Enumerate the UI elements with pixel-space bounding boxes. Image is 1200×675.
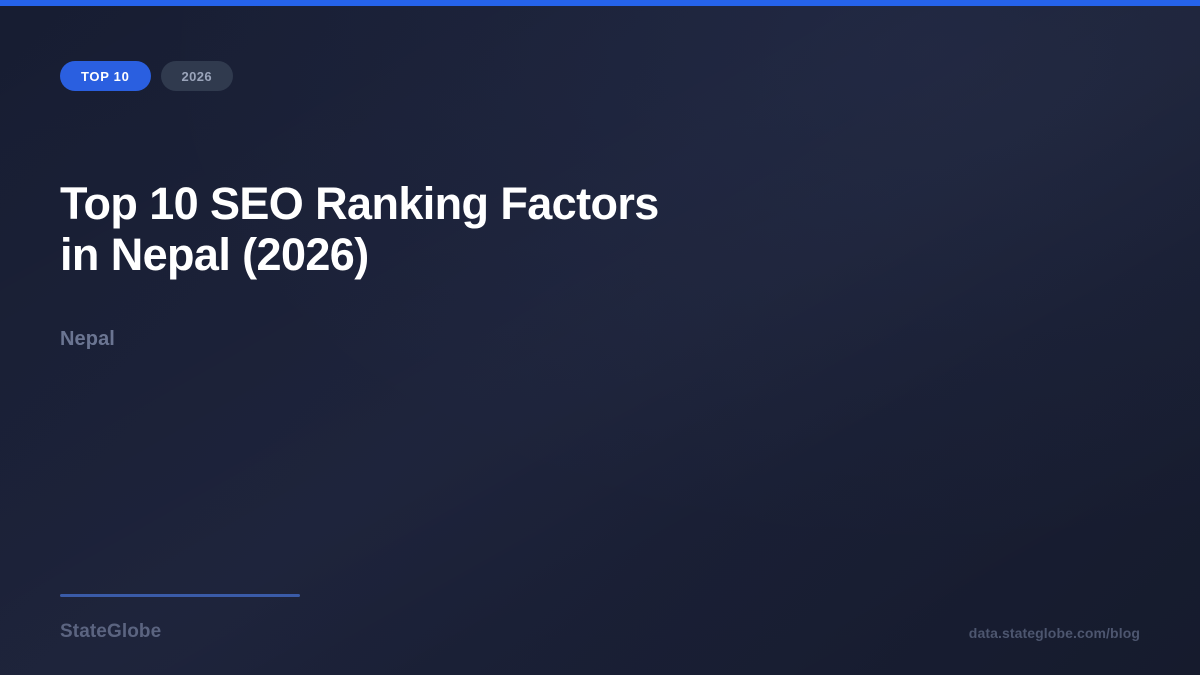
- badge-row: TOP 10 2026: [60, 61, 233, 91]
- site-url: data.stateglobe.com/blog: [969, 625, 1140, 641]
- footer-divider: [60, 594, 300, 597]
- page-subtitle: Nepal: [60, 328, 115, 351]
- page-title-line-2: in Nepal (2026): [60, 229, 369, 280]
- title-card: TOP 10 2026 Top 10 SEO Ranking Factors i…: [0, 0, 1200, 675]
- badge-year[interactable]: 2026: [161, 61, 234, 91]
- page-title: Top 10 SEO Ranking Factors in Nepal (202…: [60, 178, 780, 280]
- brand-name: StateGlobe: [60, 621, 161, 643]
- top-accent-bar: [0, 0, 1200, 6]
- background-sheen: [0, 0, 1200, 675]
- badge-top-10[interactable]: TOP 10: [60, 61, 151, 91]
- page-title-line-1: Top 10 SEO Ranking Factors: [60, 178, 659, 229]
